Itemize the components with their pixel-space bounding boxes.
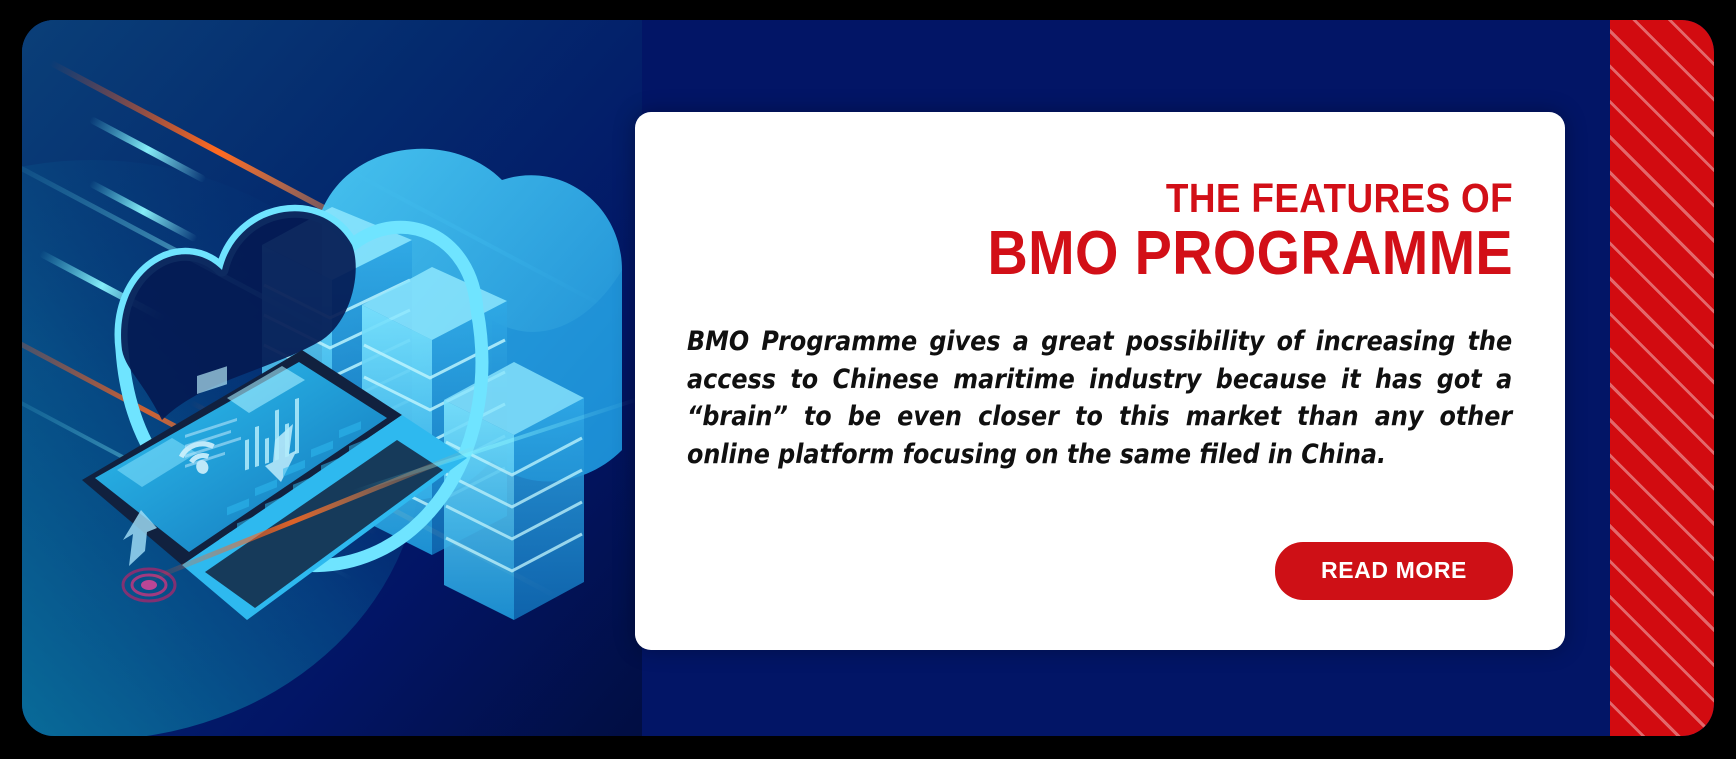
page-title: THE FEATURES OF BMO PROGRAMME xyxy=(687,178,1513,285)
diagonal-hatched-red-panel xyxy=(1610,20,1714,736)
cloud-computing-illustration xyxy=(22,20,642,736)
content-card: THE FEATURES OF BMO PROGRAMME BMO Progra… xyxy=(635,112,1565,650)
headline-eyebrow: THE FEATURES OF xyxy=(770,178,1513,219)
banner-root: THE FEATURES OF BMO PROGRAMME BMO Progra… xyxy=(0,0,1736,759)
headline-main: BMO PROGRAMME xyxy=(770,223,1513,285)
read-more-button[interactable]: READ MORE xyxy=(1275,542,1513,600)
body-paragraph: BMO Programme gives a great possibility … xyxy=(687,323,1512,474)
banner-card: THE FEATURES OF BMO PROGRAMME BMO Progra… xyxy=(22,20,1714,736)
cta-row: READ MORE xyxy=(1275,542,1513,600)
